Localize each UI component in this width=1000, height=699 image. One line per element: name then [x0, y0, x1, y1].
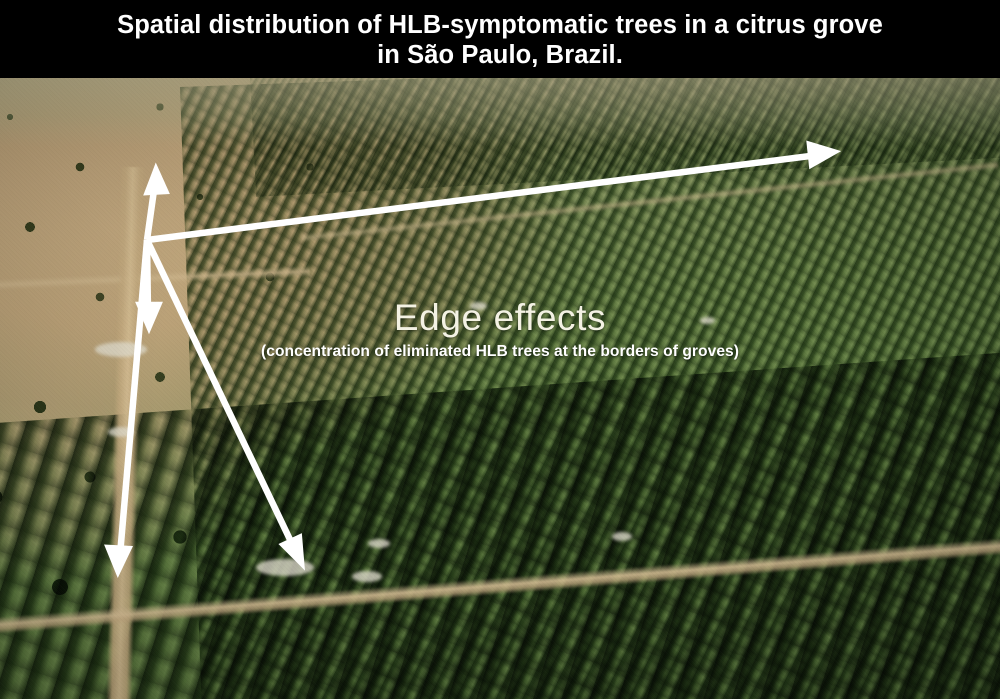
- bare-patch: [368, 539, 390, 548]
- title-banner: Spatial distribution of HLB-symptomatic …: [0, 0, 1000, 78]
- title-line-1: Spatial distribution of HLB-symptomatic …: [117, 10, 883, 40]
- callout-subtitle: (concentration of eliminated HLB trees a…: [0, 342, 1000, 361]
- horizon-haze: [0, 77, 1000, 147]
- bare-patch: [256, 559, 314, 576]
- slide-root: Edge effects (concentration of eliminate…: [0, 0, 1000, 699]
- title-line-2: in São Paulo, Brazil.: [377, 40, 623, 70]
- callout-block: Edge effects (concentration of eliminate…: [0, 297, 1000, 361]
- bare-patch: [352, 571, 382, 582]
- bare-patch: [612, 532, 632, 541]
- aerial-photograph: [0, 77, 1000, 699]
- callout-heading: Edge effects: [0, 297, 1000, 339]
- bare-patch: [108, 427, 134, 437]
